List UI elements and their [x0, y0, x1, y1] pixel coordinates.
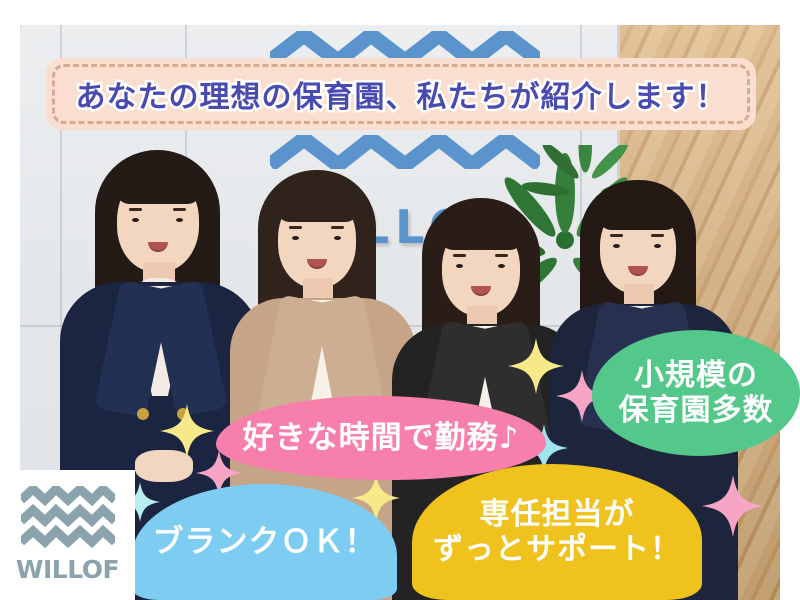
bubble-yellow-line2: ずっとサポート！	[433, 532, 681, 567]
bubble-small-nursery: 小規模の 保育園多数	[592, 330, 800, 456]
sparkle-icon-pink	[702, 470, 764, 542]
bubble-green-line2: 保育園多数	[619, 393, 774, 428]
bubble-pink-text: 好きな時間で勤務♪	[243, 420, 520, 457]
headline-text: あなたの理想の保育園、私たちが紹介します！	[76, 72, 727, 116]
poster-canvas: WILLOF	[0, 0, 800, 600]
willof-logo-badge: WILLOF	[0, 470, 135, 600]
bubble-green-line1: 小規模の	[619, 358, 774, 393]
willof-zigzag-icon	[21, 486, 115, 548]
bubble-yellow-line1: 専任担当が	[433, 497, 681, 532]
willof-wordmark: WILLOF	[16, 555, 119, 584]
headline-banner: あなたの理想の保育園、私たちが紹介します！	[46, 58, 756, 130]
bubble-blue-text: ブランクＯＫ！	[153, 524, 377, 561]
